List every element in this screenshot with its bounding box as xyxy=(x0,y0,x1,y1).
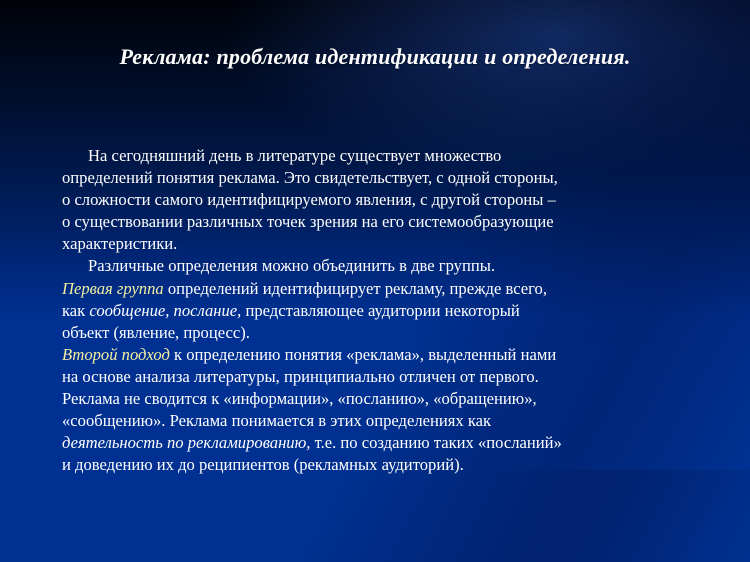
paragraph-2-line-1: Различные определения можно объединить в… xyxy=(62,255,730,277)
text-run: представляющее аудитории некоторый xyxy=(241,301,520,320)
slide-body: На сегодняшний день в литературе существ… xyxy=(62,145,730,476)
italic-run-message: сообщение, послание, xyxy=(89,301,241,320)
text-run: о сложности самого идентифицируемого явл… xyxy=(62,190,556,209)
text-run: характеристики. xyxy=(62,234,177,253)
text-run: На сегодняшний день в литературе существ… xyxy=(88,146,501,165)
text-run: как xyxy=(62,301,89,320)
paragraph-1-line-2: определений понятия реклама. Это свидете… xyxy=(62,167,730,189)
text-run: и доведению их до реципиентов (рекламных… xyxy=(62,455,464,474)
paragraph-3-line-1: Первая группа определений идентифицирует… xyxy=(62,278,730,300)
text-run: на основе анализа литературы, принципиал… xyxy=(62,367,539,386)
text-run: к определению понятия «реклама», выделен… xyxy=(170,345,556,364)
background-diagonal-sheen-secondary xyxy=(340,470,750,562)
slide-title: Реклама: проблема идентификации и опреде… xyxy=(0,44,750,70)
text-run: Различные определения можно объединить в… xyxy=(88,256,495,275)
paragraph-4-line-5: деятельность по рекламированию, т.е. по … xyxy=(62,432,730,454)
paragraph-1-line-1: На сегодняшний день в литературе существ… xyxy=(62,145,730,167)
text-run: т.е. по созданию таких «посланий» xyxy=(310,433,561,452)
text-run: объект (явление, процесс). xyxy=(62,323,250,342)
text-run: Реклама не сводится к «информации», «пос… xyxy=(62,389,537,408)
highlight-run-first-group: Первая группа xyxy=(62,279,164,298)
text-run: определений идентифицирует рекламу, преж… xyxy=(164,279,547,298)
paragraph-4-line-4: «сообщению». Реклама понимается в этих о… xyxy=(62,410,730,432)
text-run: о существовании различных точек зрения н… xyxy=(62,212,554,231)
paragraph-4-line-2: на основе анализа литературы, принципиал… xyxy=(62,366,730,388)
paragraph-4-line-1: Второй подход к определению понятия «рек… xyxy=(62,344,730,366)
paragraph-1-line-4: о существовании различных точек зрения н… xyxy=(62,211,730,233)
paragraph-3-line-3: объект (явление, процесс). xyxy=(62,322,730,344)
text-run: «сообщению». Реклама понимается в этих о… xyxy=(62,411,491,430)
paragraph-1-line-5: характеристики. xyxy=(62,233,730,255)
paragraph-4-line-3: Реклама не сводится к «информации», «пос… xyxy=(62,388,730,410)
italic-run-advertising-activity: деятельность по рекламированию, xyxy=(62,433,310,452)
highlight-run-second-approach: Второй подход xyxy=(62,345,170,364)
paragraph-1-line-3: о сложности самого идентифицируемого явл… xyxy=(62,189,730,211)
presentation-slide: Реклама: проблема идентификации и опреде… xyxy=(0,0,750,562)
paragraph-3-line-2: как сообщение, послание, представляющее … xyxy=(62,300,730,322)
text-run: определений понятия реклама. Это свидете… xyxy=(62,168,558,187)
paragraph-4-line-6: и доведению их до реципиентов (рекламных… xyxy=(62,454,730,476)
